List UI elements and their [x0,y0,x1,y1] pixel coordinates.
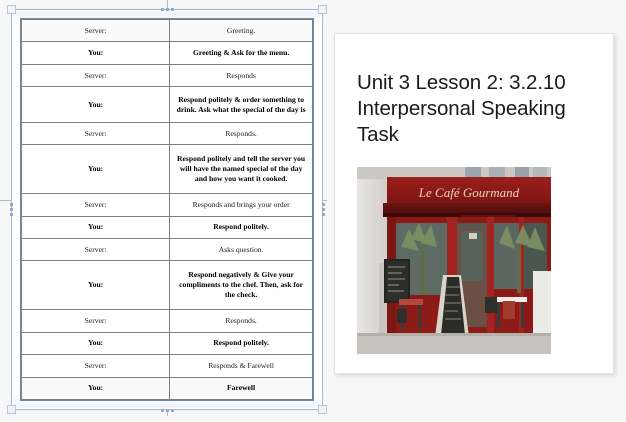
handle-dot [322,203,325,206]
handle-dot [166,8,169,11]
speaker-cell[interactable]: You: [22,42,170,64]
instruction-cell[interactable]: Respond politely & order something to dr… [170,87,313,123]
speaker-cell[interactable]: You: [22,216,170,238]
speaker-cell[interactable]: You: [22,261,170,310]
table-row[interactable]: You: Respond politely. [22,216,313,238]
handle-dot [171,8,174,11]
handle-dot [161,409,164,412]
table-row[interactable]: Server: Asks question. [22,238,313,260]
speaker-cell[interactable]: You: [22,377,170,400]
instruction-cell[interactable]: Asks question. [170,238,313,260]
dialogue-table-container[interactable]: Server: Greeting. You: Greeting & Ask fo… [20,18,314,401]
resize-handle-top-left[interactable] [7,5,16,14]
speaker-cell[interactable]: You: [22,332,170,354]
handle-dot [166,409,169,412]
instruction-cell[interactable]: Responds. [170,122,313,144]
table-row[interactable]: Server: Responds & Farewell [22,355,313,377]
speaker-cell[interactable]: You: [22,87,170,123]
table-row[interactable]: Server: Responds [22,64,313,86]
handle-dot [10,213,13,216]
table-row[interactable]: You: Farewell [22,377,313,400]
table-row[interactable]: You: Respond politely. [22,332,313,354]
speaker-cell[interactable]: Server: [22,310,170,332]
handle-dot [322,213,325,216]
instruction-cell[interactable]: Greeting. [170,20,313,42]
table-row[interactable]: Server: Responds and brings your order [22,194,313,216]
instruction-cell[interactable]: Greeting & Ask for the menu. [170,42,313,64]
dialogue-table[interactable]: Server: Greeting. You: Greeting & Ask fo… [21,19,313,400]
table-row[interactable]: Server: Responds. [22,310,313,332]
handle-dot [10,208,13,211]
table-row[interactable]: Server: Responds. [22,122,313,144]
resize-handle-middle-left[interactable] [7,199,15,219]
svg-text:Le Café Gourmand: Le Café Gourmand [418,185,520,200]
resize-handle-middle-right[interactable] [319,199,327,219]
cafe-photo-image: Le Café Gourmand Le Café Gourmand [357,167,551,354]
instruction-cell[interactable]: Responds and brings your order [170,194,313,216]
table-row[interactable]: You: Respond politely and tell the serve… [22,145,313,194]
handle-dot [161,8,164,11]
resize-handle-top-right[interactable] [318,5,327,14]
dialogue-table-body: Server: Greeting. You: Greeting & Ask fo… [22,20,313,400]
slide-canvas: Unit 3 Lesson 2: 3.2.10 Interpersonal Sp… [0,0,626,422]
handle-dot [10,203,13,206]
table-selection-wrapper[interactable]: Server: Greeting. You: Greeting & Ask fo… [11,9,323,410]
speaker-cell[interactable]: Server: [22,20,170,42]
slide-title: Unit 3 Lesson 2: 3.2.10 Interpersonal Sp… [357,70,597,149]
instruction-cell[interactable]: Farewell [170,377,313,400]
speaker-cell[interactable]: Server: [22,238,170,260]
resize-handle-bottom-center[interactable] [157,406,177,414]
resize-handle-bottom-left[interactable] [7,405,16,414]
speaker-cell[interactable]: You: [22,145,170,194]
instruction-cell[interactable]: Responds & Farewell [170,355,313,377]
instruction-cell[interactable]: Respond politely. [170,216,313,238]
instruction-cell[interactable]: Responds. [170,310,313,332]
speaker-cell[interactable]: Server: [22,194,170,216]
resize-handle-bottom-right[interactable] [318,405,327,414]
table-row[interactable]: Server: Greeting. [22,20,313,42]
instruction-cell[interactable]: Respond politely. [170,332,313,354]
cafe-photo[interactable]: Le Café Gourmand Le Café Gourmand [357,167,551,354]
table-row[interactable]: You: Respond negatively & Give your comp… [22,261,313,310]
speaker-cell[interactable]: Server: [22,355,170,377]
speaker-cell[interactable]: Server: [22,122,170,144]
instruction-cell[interactable]: Responds [170,64,313,86]
table-row[interactable]: You: Respond politely & order something … [22,87,313,123]
table-row[interactable]: You: Greeting & Ask for the menu. [22,42,313,64]
resize-handle-top-center[interactable] [157,5,177,13]
speaker-cell[interactable]: Server: [22,64,170,86]
slide-preview-panel[interactable]: Unit 3 Lesson 2: 3.2.10 Interpersonal Sp… [334,33,614,374]
instruction-cell[interactable]: Respond politely and tell the server you… [170,145,313,194]
instruction-cell[interactable]: Respond negatively & Give your complimen… [170,261,313,310]
handle-dot [322,208,325,211]
handle-dot [171,409,174,412]
